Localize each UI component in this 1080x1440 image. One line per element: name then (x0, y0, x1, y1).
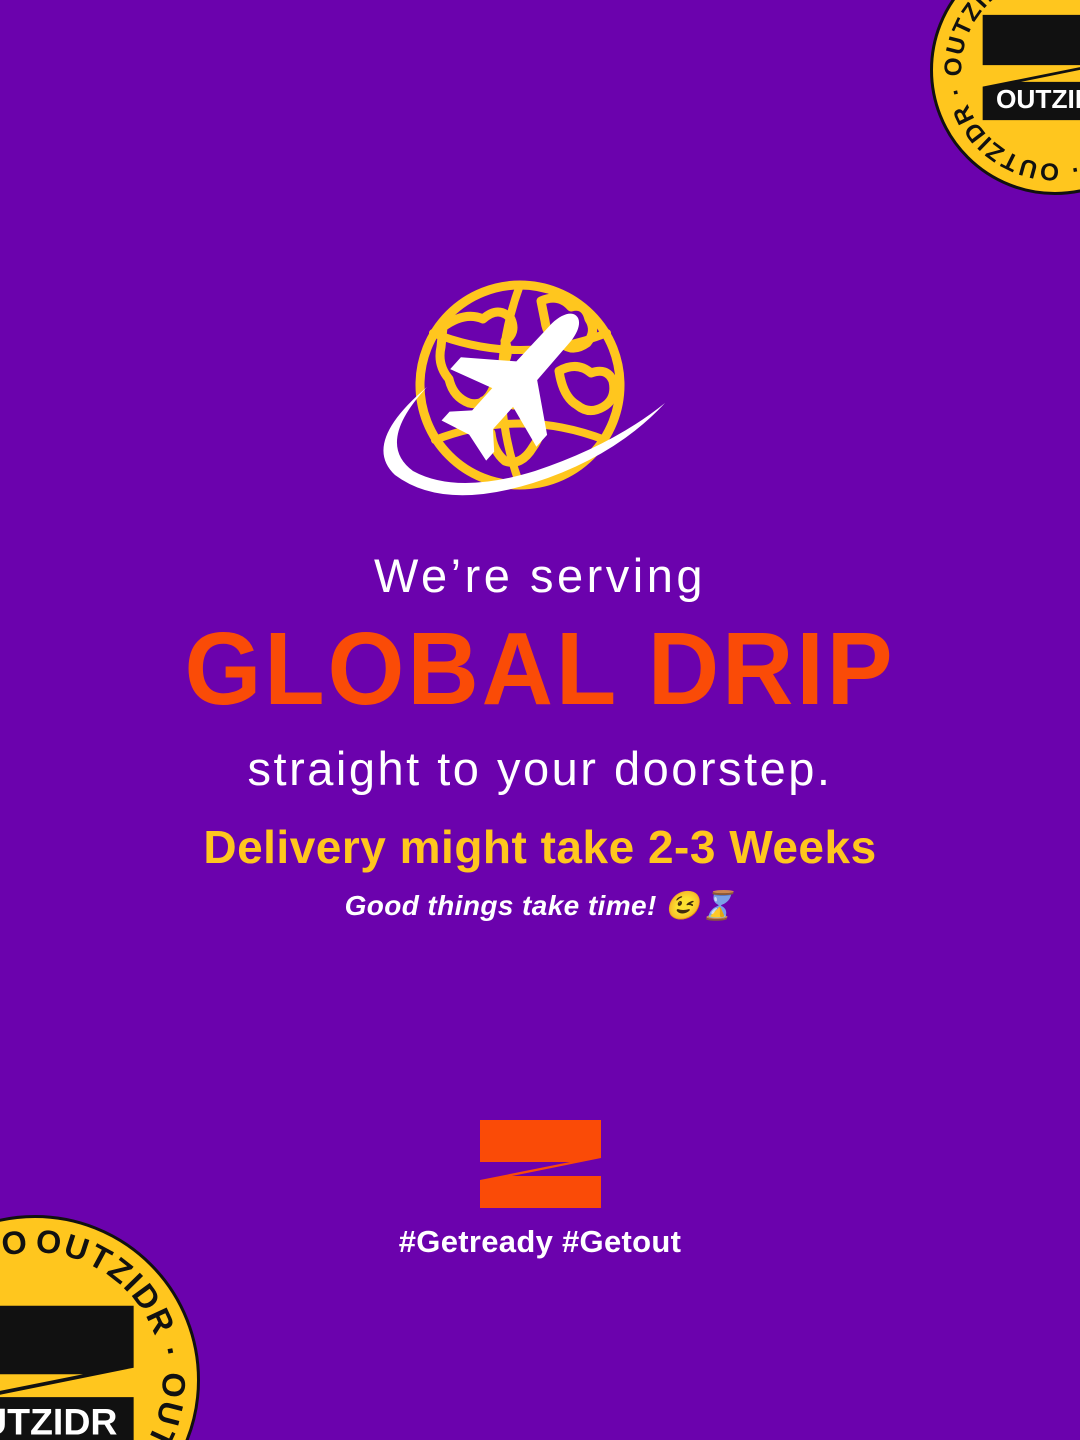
outzidr-sticker-bottom-left: OUTZIDR · OUTZIDR · OUTZIDR · OUTZIDR · … (0, 1215, 200, 1440)
globe-airplane-icon (365, 275, 715, 505)
headline-line-2: GLOBAL DRIP (22, 609, 1059, 728)
delivery-subtext: Good things take time! 😉⌛ (0, 889, 1080, 922)
badge-core-label-tr: OUTZIDR (996, 84, 1080, 114)
headline-block: We’re serving GLOBAL DRIP straight to yo… (0, 548, 1080, 797)
outzidr-sticker-top-right: OUTZIDR · OUTZIDR · OUTZIDR · OUTZIDR · … (930, 0, 1080, 195)
badge-core-bottomleft: OUTZIDR (0, 1303, 138, 1440)
delivery-block: Delivery might take 2-3 Weeks Good thing… (0, 820, 1080, 922)
badge-core-label-bl: OUTZIDR (0, 1401, 118, 1440)
badge-core-topright: OUTZIDR (980, 13, 1080, 128)
headline-line-3: straight to your doorstep. (0, 741, 1080, 797)
promo-poster: We’re serving GLOBAL DRIP straight to yo… (0, 0, 1080, 1440)
outzidr-z-logo (478, 1118, 603, 1210)
delivery-notice: Delivery might take 2-3 Weeks (0, 820, 1080, 875)
headline-line-1: We’re serving (0, 548, 1080, 603)
